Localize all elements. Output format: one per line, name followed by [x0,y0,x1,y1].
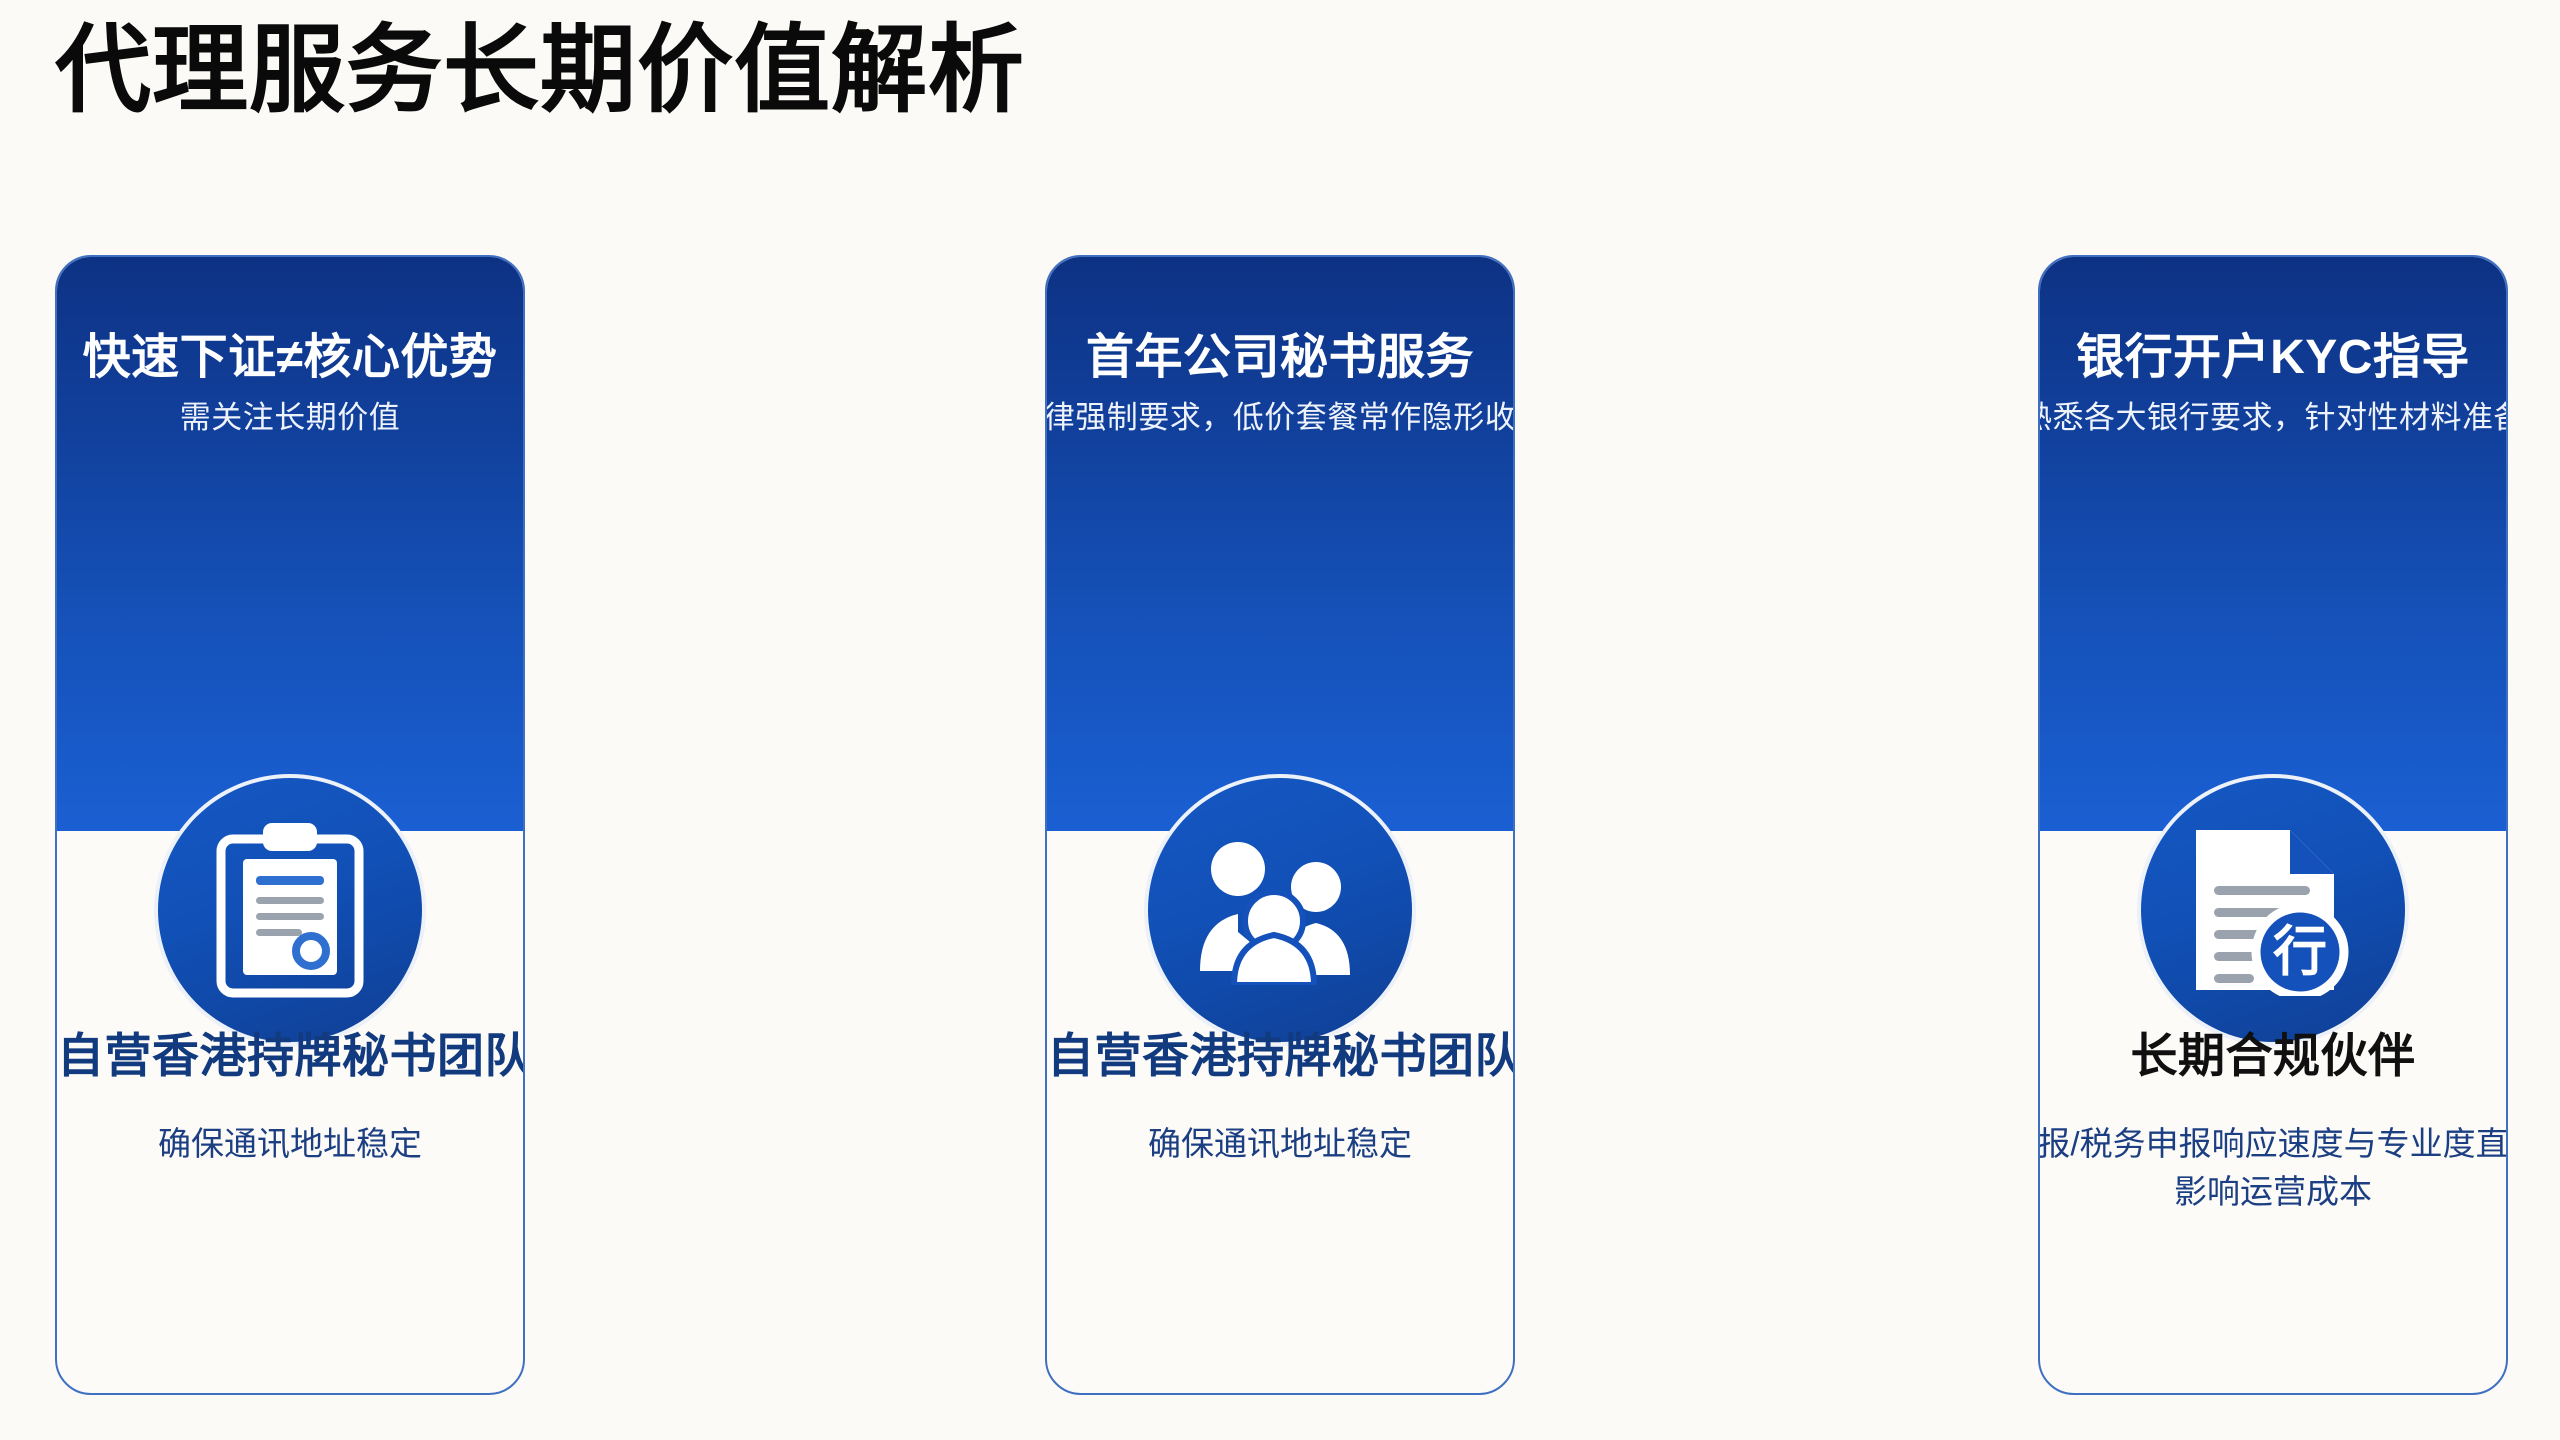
page-title: 代理服务长期价值解析 [55,16,1025,126]
card-subtitle: 熟悉各大银行要求，针对性材料准备 [2038,392,2508,437]
card-footer-title: 自营香港持牌秘书团队 [1047,1017,1513,1086]
card-list: 快速下证≠核心优势 需关注长期价值 自营香港持牌秘书团队 确保通讯地址稳定 [0,255,2560,1400]
card-footer-subtitle: 年报/税务申报响应速度与专业度直接影响运营成本 [2038,1120,2508,1216]
value-card-bank-kyc[interactable]: 银行开户KYC指导 熟悉各大银行要求，针对性材料准备 行 长期合规伙伴 年 [2038,255,2508,1395]
card-footer-title: 自营香港持牌秘书团队 [57,1017,523,1086]
card-footer: 自营香港持牌秘书团队 确保通讯地址稳定 [1047,1017,1513,1168]
card-footer: 长期合规伙伴 年报/税务申报响应速度与专业度直接影响运营成本 [2040,1017,2506,1216]
card-heading: 首年公司秘书服务 [1047,317,1513,387]
card-footer: 自营香港持牌秘书团队 确保通讯地址稳定 [57,1017,523,1168]
card-subtitle: 需关注长期价值 [180,392,401,437]
clipboard-document-icon [154,774,426,1046]
value-card-company-secretary[interactable]: 首年公司秘书服务 法律强制要求，低价套餐常作隐形收费 自营香港持牌秘书团队 [1045,255,1515,1395]
bank-document-seal-icon: 行 [2137,774,2409,1046]
card-footer-subtitle: 确保通讯地址稳定 [1047,1120,1513,1168]
card-footer-subtitle: 确保通讯地址稳定 [57,1120,523,1168]
card-icon-area [57,637,523,937]
team-people-icon [1144,774,1416,1046]
card-footer-title: 长期合规伙伴 [2040,1017,2506,1086]
card-icon-area: 行 [2040,637,2506,937]
card-icon-area [1047,637,1513,937]
card-subtitle: 法律强制要求，低价套餐常作隐形收费 [1045,392,1515,437]
card-heading: 银行开户KYC指导 [2040,317,2506,387]
card-heading: 快速下证≠核心优势 [57,317,523,387]
value-card-fast-registration[interactable]: 快速下证≠核心优势 需关注长期价值 自营香港持牌秘书团队 确保通讯地址稳定 [55,255,525,1395]
svg-text:行: 行 [2273,922,2327,982]
